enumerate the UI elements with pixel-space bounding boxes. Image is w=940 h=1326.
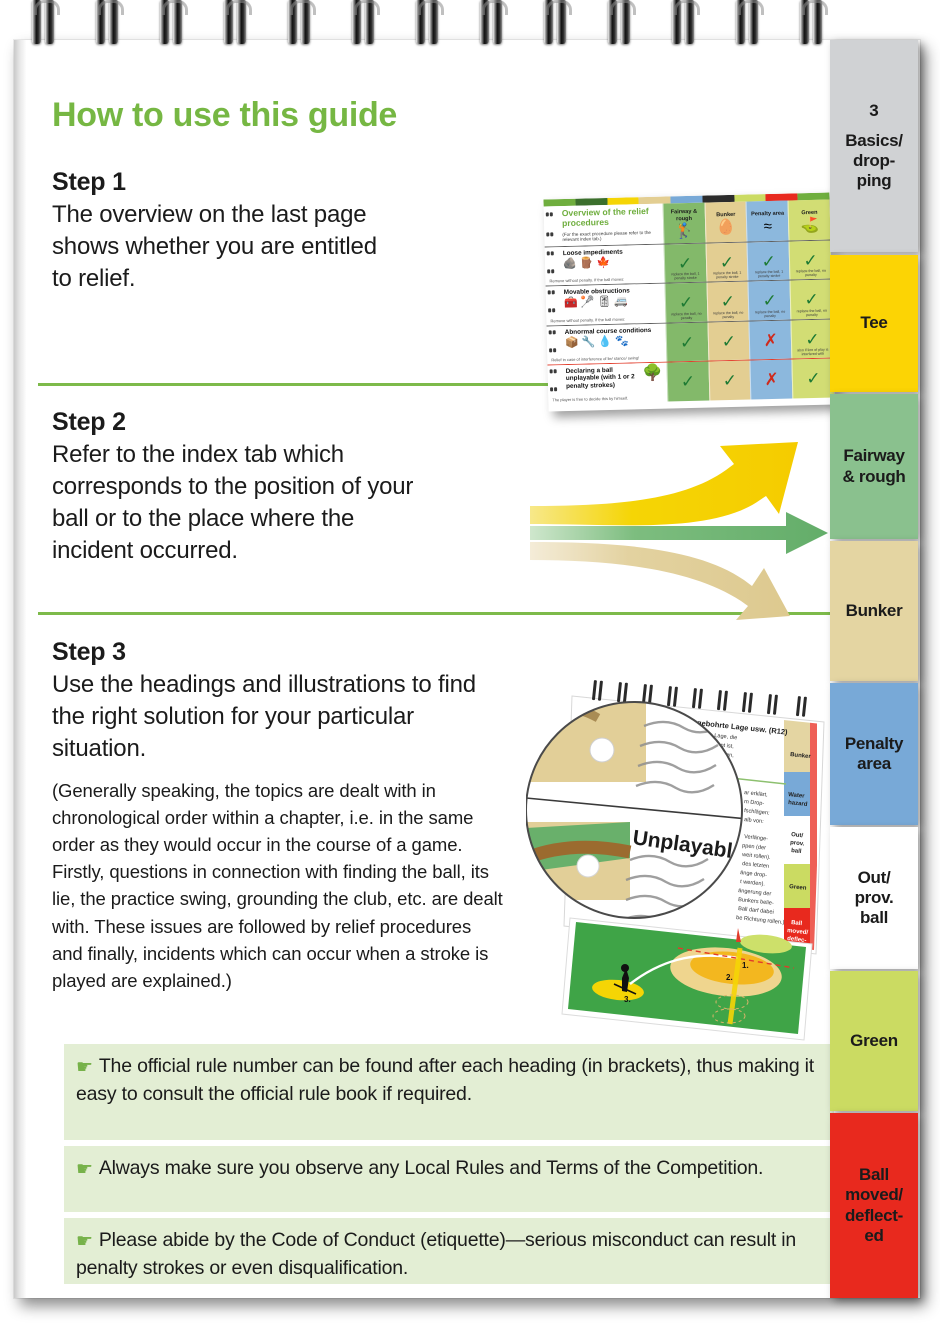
marker-2: 2. <box>726 973 733 982</box>
note-text: ☛Please abide by the Code of Conduct (et… <box>76 1227 822 1282</box>
spiral-coil <box>736 0 762 46</box>
tab-label: Green <box>848 1031 900 1051</box>
course-illustration-card: 1. 2. 3. <box>562 918 812 1040</box>
row-icons: 🧰🥍🎚🚐 <box>564 296 661 309</box>
column-fairway-rough: Fairway & rough 🏌 <box>662 203 705 244</box>
index-tab-tee[interactable]: Tee <box>830 255 918 392</box>
row-icons: 📦🔧💧🐾 <box>565 336 662 349</box>
tree-stump-icon: 🌳 <box>642 366 662 382</box>
tab-label: Fairway& rough <box>840 446 907 486</box>
table-row: Declaring a ball unplayable (with 1 or 2… <box>548 359 835 405</box>
spiral-coil <box>672 0 698 46</box>
step-2-heading: Step 2 <box>52 408 422 437</box>
overview-table-illustration: Overview of the relief procedures (For t… <box>543 193 834 412</box>
cell-note: replace the ball, 1 penalty stroke <box>665 272 706 281</box>
column-bunker: Bunker 🥚 <box>704 202 747 243</box>
magnifier-illustration: Bunker Water hazard Out/ prov. ball Gree… <box>526 672 838 1060</box>
spiral-coil <box>608 0 634 46</box>
page-content-column: How to use this guide Step 1 The overvie… <box>26 40 832 1298</box>
step-1-heading: Step 1 <box>52 168 382 197</box>
pointing-hand-icon: ☛ <box>76 1055 93 1081</box>
column-label: Bunker <box>716 211 735 218</box>
note-text: ☛The official rule number can be found a… <box>76 1053 822 1108</box>
cell-note: replace the ball, 1 penalty stroke <box>749 270 790 279</box>
water-icon: ≈ <box>764 219 773 234</box>
row-icons: 🪨🪵🍁 <box>563 257 660 270</box>
index-tab-bunker[interactable]: Bunker <box>830 541 918 681</box>
check-icon: ✓ <box>679 294 694 311</box>
index-tab-ball-moved-deflected[interactable]: Ballmoved/deflect-ed <box>830 1113 918 1298</box>
cell: ✓replace the ball, no penalty <box>748 281 791 321</box>
cell: ✓ <box>792 359 835 399</box>
row-footnote: The player is free to decide this by him… <box>552 396 628 403</box>
column-penalty-area: Penalty area ≈ <box>746 201 789 242</box>
relief-procedures-table: Overview of the relief procedures (For t… <box>544 200 835 405</box>
tab-label: Tee <box>858 313 889 333</box>
tab-number: 3 <box>869 101 878 121</box>
tab-label: Penaltyarea <box>843 734 905 774</box>
row-title: Loose impediments <box>563 247 660 256</box>
check-icon: ✓ <box>803 251 818 268</box>
index-tab-out-prov-ball[interactable]: Out/prov.ball <box>830 827 918 969</box>
step-3-body: (Generally speaking, the topics are deal… <box>52 777 504 995</box>
cell: ✓ <box>665 322 708 362</box>
step-3-text: Use the headings and illustrations to fi… <box>52 669 504 765</box>
spiral-binding <box>14 0 844 48</box>
fairway-icon: 🏌 <box>675 224 694 239</box>
row-footnote: Remove without penalty. If the ball move… <box>549 277 624 284</box>
index-tab-green[interactable]: Green <box>830 971 918 1111</box>
check-icon: ✓ <box>805 330 820 347</box>
tab-label: Bunker <box>844 601 905 621</box>
cell-note: replace the ball, no penalty <box>750 309 791 318</box>
check-icon: ✓ <box>723 372 738 389</box>
column-label: Green <box>801 209 817 216</box>
table-row: Loose impediments 🪨🪵🍁 Remove without pen… <box>545 240 832 287</box>
overview-subtitle: (For the exact procedure please refer to… <box>562 229 659 242</box>
note-text: ☛Always make sure you observe any Local … <box>76 1155 822 1183</box>
guide-page: How to use this guide Step 1 The overvie… <box>14 40 920 1298</box>
spiral-coil <box>352 0 378 46</box>
step-1: Step 1 The overview on the last page sho… <box>52 168 382 295</box>
table-row: Movable obstructions 🧰🥍🎚🚐 Remove without… <box>546 280 833 327</box>
row-label-cell: Abnormal course conditions 📦🔧💧🐾 Relief i… <box>547 323 667 364</box>
spiral-coil <box>224 0 250 46</box>
overview-title: Overview of the relief procedures <box>562 207 659 229</box>
spiral-coil <box>416 0 442 46</box>
marker-1: 1. <box>742 961 749 970</box>
cell: ✓replace the ball, no penalty <box>706 282 749 322</box>
row-label-cell: Movable obstructions 🧰🥍🎚🚐 Remove without… <box>546 284 666 325</box>
page-title: How to use this guide <box>52 96 397 135</box>
arrow-down-tan <box>530 542 790 620</box>
cell: ✓replace the ball, no penalty <box>789 240 832 280</box>
arrows-illustration <box>498 438 838 624</box>
row-title: Abnormal course conditions <box>565 327 662 336</box>
mini-tab-out: Out/ <box>791 832 804 839</box>
index-tab-penalty-area[interactable]: Penaltyarea <box>830 683 918 825</box>
step-2-text: Refer to the index tab which corresponds… <box>52 439 422 567</box>
check-icon: ✓ <box>678 254 693 271</box>
index-tabs: 3 Basics/drop-ping Tee Fairway& rough Bu… <box>830 40 918 1298</box>
table-header-row: Overview of the relief procedures (For t… <box>544 200 831 248</box>
cell-note: replace the ball, no penalty <box>790 269 831 278</box>
cell: ✓replace the ball, 1 penalty stroke <box>705 242 748 282</box>
bunker-icon: 🥚 <box>717 220 736 235</box>
row-title: Declaring a ball unplayable (with 1 or 2… <box>566 367 639 390</box>
cell-note: replace the ball, no penalty <box>666 311 707 320</box>
mini-tab-ballmoved: Ball <box>791 920 803 927</box>
check-icon: ✓ <box>680 334 695 351</box>
spiral-coil <box>160 0 186 46</box>
table-title-cell: Overview of the relief procedures (For t… <box>544 204 664 247</box>
index-tab-fairway-rough[interactable]: Fairway& rough <box>830 394 918 539</box>
check-icon: ✓ <box>681 373 696 390</box>
page-surface: How to use this guide Step 1 The overvie… <box>14 40 920 1298</box>
cell: ✗ <box>750 360 793 400</box>
column-label: Penalty area <box>751 210 784 217</box>
spiral-coil <box>32 0 58 46</box>
cell-note: replace the ball, 1 penalty stroke <box>707 271 748 280</box>
note-local-rules: ☛Always make sure you observe any Local … <box>64 1146 834 1212</box>
cell: ✓ <box>708 361 751 401</box>
cell: ✗ <box>749 320 792 360</box>
spiral-coil <box>96 0 122 46</box>
note-rule-number: ☛The official rule number can be found a… <box>64 1044 834 1140</box>
index-tab-basics-dropping[interactable]: 3 Basics/drop-ping <box>830 40 918 252</box>
step-3-heading: Step 3 <box>52 638 504 667</box>
tab-label: Basics/drop-ping <box>843 131 904 191</box>
check-icon: ✓ <box>721 293 736 310</box>
step-2: Step 2 Refer to the index tab which corr… <box>52 408 422 567</box>
cross-icon: ✗ <box>764 371 779 388</box>
pointing-hand-icon: ☛ <box>76 1157 93 1183</box>
tab-label: Out/prov.ball <box>853 868 896 928</box>
pointing-hand-icon: ☛ <box>76 1229 93 1255</box>
green-flag-icon: ⛳ <box>800 218 819 233</box>
check-icon: ✓ <box>806 370 821 387</box>
step-3: Step 3 Use the headings and illustration… <box>52 638 504 994</box>
arrow-up-yellow <box>530 442 798 525</box>
row-title: Movable obstructions <box>564 287 661 296</box>
column-label: Fairway & rough <box>663 209 704 223</box>
step-1-text: The overview on the last page shows whet… <box>52 199 382 295</box>
note-code-of-conduct: ☛Please abide by the Code of Conduct (et… <box>64 1218 834 1284</box>
cell-note: replace the ball, no penalty <box>791 308 832 317</box>
spiral-coil <box>800 0 826 46</box>
tab-label: Ballmoved/deflect-ed <box>843 1165 905 1245</box>
check-icon: ✓ <box>720 253 735 270</box>
column-green: Green ⛳ <box>788 200 831 241</box>
row-footnote: Remove without penalty. If the ball move… <box>550 316 625 323</box>
marker-3: 3. <box>624 995 631 1004</box>
check-icon: ✓ <box>804 291 819 308</box>
cell-note: replace the ball, no penalty <box>708 310 749 319</box>
cell: ✓replace the ball, no penalty <box>790 280 833 320</box>
svg-text:ball: ball <box>791 848 802 855</box>
row-label-cell: Loose impediments 🪨🪵🍁 Remove without pen… <box>545 244 665 285</box>
cell-note: also if line of play is interfered with <box>792 348 833 357</box>
spiral-coil <box>544 0 570 46</box>
cell: ✓replace the ball, 1 penalty stroke <box>663 243 706 283</box>
table-row: Abnormal course conditions 📦🔧💧🐾 Relief i… <box>547 319 834 366</box>
check-icon: ✓ <box>722 333 737 350</box>
cross-icon: ✗ <box>763 331 778 348</box>
cell: ✓ <box>666 362 709 402</box>
cell: ✓replace the ball, 1 penalty stroke <box>747 241 790 281</box>
check-icon: ✓ <box>762 292 777 309</box>
cell: ✓ <box>707 321 750 361</box>
row-label-cell: Declaring a ball unplayable (with 1 or 2… <box>548 363 668 404</box>
spiral-coil <box>288 0 314 46</box>
row-footnote: Relief in case of interference of lie/ s… <box>551 356 639 363</box>
spiral-coil <box>480 0 506 46</box>
cell: ✓also if line of play is interfered with <box>791 319 834 359</box>
page-spine-shadow <box>14 40 26 1298</box>
cell: ✓replace the ball, no penalty <box>664 283 707 323</box>
check-icon: ✓ <box>761 252 776 269</box>
